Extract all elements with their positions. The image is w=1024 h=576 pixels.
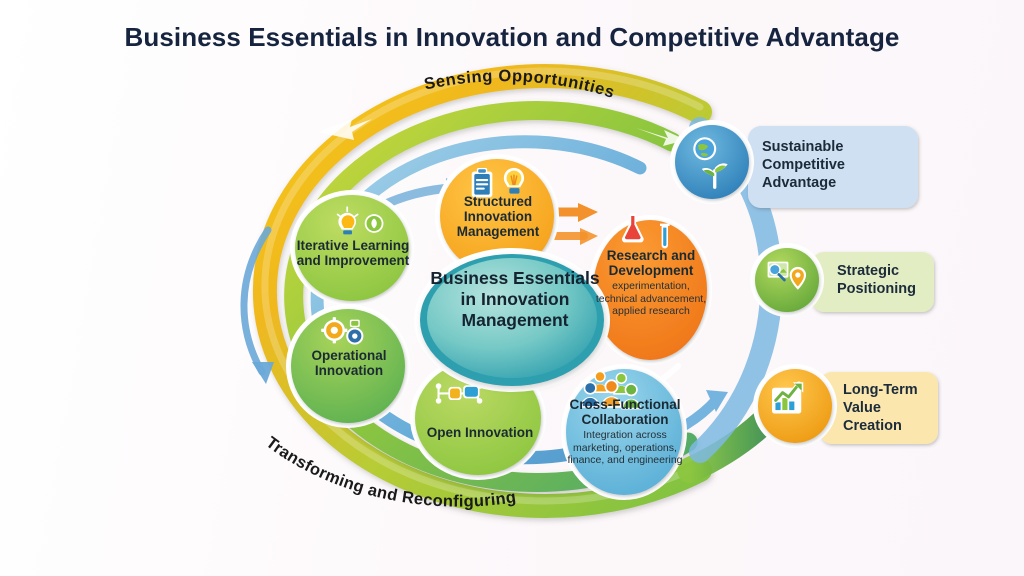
arrow-structured-to-rnd-2-head bbox=[580, 228, 598, 245]
globe-icon bbox=[693, 137, 716, 160]
leaf-bulb-icon bbox=[365, 214, 384, 233]
callout-label-strategic-positioning: Strategic Positioning bbox=[837, 262, 937, 298]
infographic-canvas: Business Essentials in Innovation and Co… bbox=[0, 0, 1024, 576]
arrow-inner-descend-left-head bbox=[252, 362, 274, 384]
node-operational-innovation[interactable] bbox=[286, 304, 410, 428]
clipboard-icon bbox=[472, 168, 493, 197]
node-iterative-learning-and-improvement[interactable] bbox=[290, 190, 414, 306]
node-research-and-development[interactable] bbox=[588, 214, 712, 365]
arrow-structured-to-rnd-1-head bbox=[578, 203, 598, 222]
node-cross-functional-collaboration[interactable] bbox=[561, 364, 687, 500]
magnifier-icon bbox=[768, 262, 789, 280]
callout-label-sustainable-competitive-advantage: Sustainable Competitive Advantage bbox=[762, 138, 877, 192]
center-node-label: Business Essentials in Innovation Manage… bbox=[430, 268, 600, 331]
callout-label-long-term-value-creation: Long-Term Value Creation bbox=[843, 381, 935, 435]
